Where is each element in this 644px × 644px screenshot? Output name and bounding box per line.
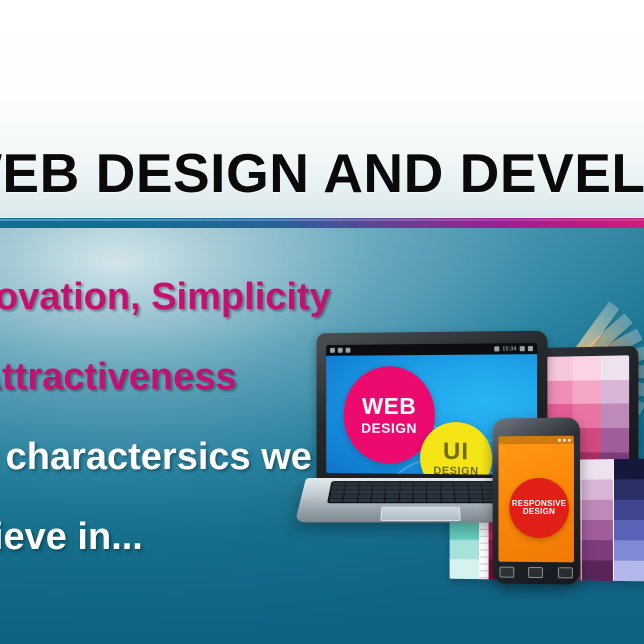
keyboard-key [455, 490, 468, 493]
keyboard-key [455, 486, 468, 489]
keyboard-key [329, 498, 343, 501]
keyboard-key [400, 486, 413, 489]
phone-screen: RESPONSIVE DESIGN [499, 436, 574, 563]
color-swatch [582, 459, 613, 480]
keyboard-key [373, 486, 386, 489]
color-swatch [614, 540, 644, 561]
color-swatch [582, 479, 613, 499]
responsive-design-bubble: RESPONSIVE DESIGN [509, 478, 569, 538]
clock-label: 10:34 [502, 346, 516, 352]
keyboard-key [414, 490, 427, 493]
color-swatch [582, 540, 613, 560]
keyboard-key [330, 494, 343, 497]
keyboard-key [331, 490, 344, 493]
page-title: WEB DESIGN AND DEVELOPMENT [0, 146, 644, 201]
color-swatch [614, 561, 644, 582]
home-icon [529, 566, 544, 577]
responsive-bubble-line2: DESIGN [523, 508, 555, 516]
keyboard-key [399, 498, 412, 501]
swatch-column [614, 459, 644, 582]
keyboard-key [400, 490, 413, 493]
keyboard-key [427, 482, 440, 485]
color-swatch [544, 380, 572, 404]
gradient-divider-rule [0, 218, 644, 228]
web-design-bubble-line1: WEB [362, 395, 416, 418]
keyboard-key [455, 498, 468, 501]
signal-icon [528, 346, 533, 351]
keyboard-key [386, 494, 399, 497]
battery-icon [520, 346, 525, 351]
swatch-column [582, 459, 614, 581]
keyboard-key [357, 498, 370, 501]
keyboard-key [414, 486, 427, 489]
keyboard-key [345, 490, 358, 493]
recents-icon [346, 348, 351, 353]
color-swatch [572, 380, 600, 404]
ui-design-bubble-line1: UI [443, 440, 469, 464]
keyboard-key [344, 494, 357, 497]
keyboard-key [441, 494, 454, 497]
device-cluster: 10:34 WEB DESIGN [296, 330, 644, 590]
keyboard-key [372, 494, 385, 497]
keyboard-key [400, 482, 413, 485]
keyboard-key [371, 498, 384, 501]
wifi-icon [494, 346, 499, 351]
ui-design-bubble-line2: DESIGN [433, 466, 478, 476]
back-icon [500, 566, 515, 577]
keyboard-key [345, 486, 358, 489]
keyboard-key [428, 494, 441, 497]
keyboard-key [358, 494, 371, 497]
keyboard-key [359, 486, 372, 489]
color-swatch [614, 479, 644, 500]
color-swatch [600, 404, 629, 428]
keyboard-key [414, 494, 427, 497]
phone-nav-bar [493, 564, 580, 581]
keyboard-key [414, 498, 427, 501]
keyboard-key [414, 482, 427, 485]
keyboard-key [454, 482, 467, 485]
color-swatch [582, 560, 613, 581]
status-left-icons [330, 348, 350, 353]
keyboard-key [372, 490, 385, 493]
color-swatch [600, 428, 629, 452]
banner-image: WEB DESIGN AND DEVELOPMENT Innovation, S… [0, 0, 644, 644]
keyboard-key [427, 486, 440, 489]
color-swatch [600, 380, 629, 404]
color-swatch [614, 459, 644, 480]
keyboard-key [441, 490, 454, 493]
keyboard-key [332, 486, 345, 489]
color-swatch [614, 520, 644, 540]
keyboard-key [468, 482, 481, 485]
keyboard-key [441, 486, 454, 489]
status-right-icons: 10:34 [494, 346, 533, 352]
keyboard-key [469, 494, 482, 497]
color-swatch [600, 355, 629, 380]
keyboard-key [386, 486, 399, 489]
color-swatch [450, 559, 479, 579]
keyboard-key [387, 482, 400, 485]
keyboard-key [343, 498, 356, 501]
keyboard-key [333, 482, 346, 485]
keyboard-key [469, 490, 482, 493]
keyboard-key [400, 494, 413, 497]
laptop-status-bar: 10:34 [326, 343, 537, 356]
color-swatch [614, 500, 644, 520]
keyboard-key [468, 486, 481, 489]
keyboard-key [428, 498, 441, 501]
back-icon [330, 348, 335, 353]
keyboard-key [359, 490, 372, 493]
signal-icon [558, 438, 561, 441]
recents-icon [558, 567, 573, 578]
keyboard-key [455, 494, 468, 497]
keyboard-key [386, 490, 399, 493]
keyboard-key [427, 490, 440, 493]
smartphone-device: RESPONSIVE DESIGN [493, 417, 580, 584]
home-icon [338, 348, 343, 353]
laptop-trackpad [380, 507, 461, 521]
color-swatch [572, 356, 600, 380]
keyboard-key [441, 498, 454, 501]
battery-icon [568, 438, 571, 441]
keyboard-key [373, 482, 386, 485]
web-design-bubble-line2: DESIGN [361, 421, 417, 435]
keyboard-key [360, 482, 373, 485]
phone-status-bar [499, 436, 574, 445]
keyboard-key [469, 498, 482, 501]
keyboard-key [441, 482, 454, 485]
wifi-icon [563, 438, 566, 441]
keyboard-key [385, 498, 398, 501]
tagline-line-1: Innovation, Simplicity [0, 278, 368, 316]
color-swatch [582, 520, 613, 540]
keyboard-key [346, 482, 359, 485]
color-swatch [544, 356, 572, 380]
color-swatch [582, 500, 613, 520]
